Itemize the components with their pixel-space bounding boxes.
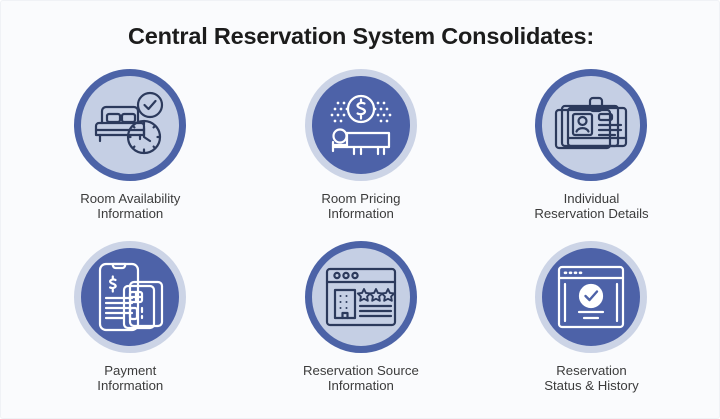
- page-title: Central Reservation System Consolidates:: [1, 23, 720, 50]
- browser-clock-check-icon: [555, 263, 627, 331]
- infographic-canvas: Central Reservation System Consolidates:: [0, 0, 720, 419]
- grid-item-label: Room Pricing Information: [321, 191, 400, 221]
- grid-item-label: Payment Information: [97, 363, 163, 393]
- grid-item-reservation-source[interactable]: Reservation Source Information: [246, 241, 477, 413]
- grid-item-label: Room Availability Information: [80, 191, 180, 221]
- browser-hotel-stars-icon: [323, 265, 399, 329]
- grid-item-reservation-status[interactable]: Reservation Status & History: [476, 241, 707, 413]
- dollar-coin-bed-icon: [323, 89, 399, 161]
- icon-grid: Room Availability Information: [15, 69, 707, 413]
- grid-item-room-pricing[interactable]: Room Pricing Information: [246, 69, 477, 241]
- grid-item-label: Reservation Status & History: [544, 363, 639, 393]
- icon-circle-reservation-status: [535, 241, 647, 353]
- icon-circle-individual-reservation: [535, 69, 647, 181]
- id-cards-icon: [552, 92, 630, 158]
- icon-circle-room-pricing: [305, 69, 417, 181]
- grid-item-individual-reservation[interactable]: Individual Reservation Details: [476, 69, 707, 241]
- grid-item-label: Reservation Source Information: [303, 363, 419, 393]
- icon-circle-reservation-source: [305, 241, 417, 353]
- icon-circle-payment: [74, 241, 186, 353]
- grid-item-room-availability[interactable]: Room Availability Information: [15, 69, 246, 241]
- grid-item-label: Individual Reservation Details: [534, 191, 648, 221]
- bed-check-clock-icon: [92, 89, 168, 161]
- icon-circle-room-availability: [74, 69, 186, 181]
- grid-item-payment[interactable]: Payment Information: [15, 241, 246, 413]
- phone-credit-cards-icon: [94, 260, 166, 334]
